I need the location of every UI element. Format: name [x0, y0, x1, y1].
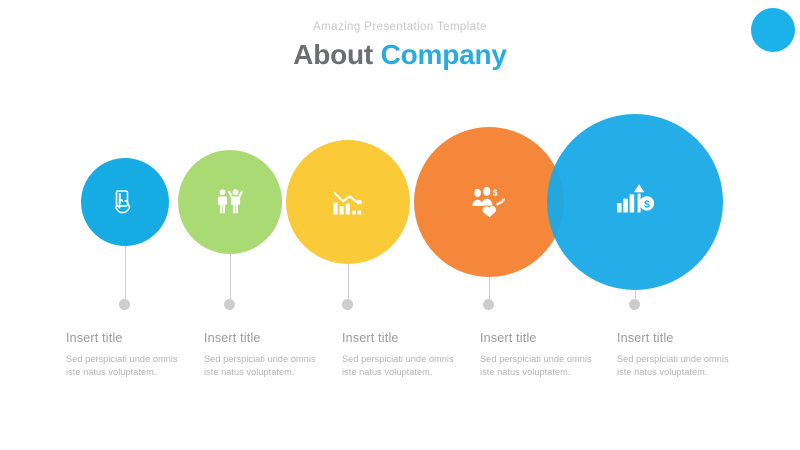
hand-credit-card-icon — [112, 188, 138, 216]
bubble-item-5[interactable]: $ — [547, 114, 723, 290]
caption-body-5: Sed perspiciati unde omnis iste natus vo… — [617, 353, 752, 379]
bubble-item-3[interactable] — [286, 140, 410, 264]
caption-body-2-line1: Sed perspiciati unde omnis — [204, 353, 339, 366]
caption-item-5: Insert title Sed perspiciati unde omnis … — [617, 330, 752, 379]
caption-body-5-line1: Sed perspiciati unde omnis — [617, 353, 752, 366]
caption-body-3-line1: Sed perspiciati unde omnis — [342, 353, 477, 366]
slide-canvas: Amazing Presentation Template About Comp… — [0, 0, 800, 450]
bubble-item-1[interactable] — [81, 158, 169, 246]
declining-bar-chart-icon — [331, 185, 365, 219]
caption-title-4: Insert title — [480, 330, 615, 346]
caption-title-1: Insert title — [66, 330, 201, 346]
caption-item-3: Insert title Sed perspiciati unde omnis … — [342, 330, 477, 379]
caption-item-1: Insert title Sed perspiciati unde omnis … — [66, 330, 201, 379]
caption-body-2-line2: iste natus voluptatem. — [204, 366, 339, 379]
caption-title-2: Insert title — [204, 330, 339, 346]
caption-body-4-line2: iste natus voluptatem. — [480, 366, 615, 379]
bubble-item-2[interactable] — [178, 150, 282, 254]
caption-item-4: Insert title Sed perspiciati unde omnis … — [480, 330, 615, 379]
caption-body-3-line2: iste natus voluptatem. — [342, 366, 477, 379]
caption-body-4: Sed perspiciati unde omnis iste natus vo… — [480, 353, 615, 379]
two-people-celebrating-icon — [213, 187, 247, 217]
growth-chart-dollar-icon: $ — [615, 183, 655, 221]
caption-body-1-line1: Sed perspiciati unde omnis — [66, 353, 201, 366]
caption-body-5-line2: iste natus voluptatem. — [617, 366, 752, 379]
svg-text:$: $ — [493, 188, 498, 197]
caption-title-5: Insert title — [617, 330, 752, 346]
caption-item-2: Insert title Sed perspiciati unde omnis … — [204, 330, 339, 379]
bubble-item-4[interactable]: $ — [414, 127, 564, 277]
caption-body-2: Sed perspiciati unde omnis iste natus vo… — [204, 353, 339, 379]
people-with-money-icon: $ — [470, 186, 508, 218]
caption-body-1: Sed perspiciati unde omnis iste natus vo… — [66, 353, 201, 379]
caption-title-3: Insert title — [342, 330, 477, 346]
caption-body-4-line1: Sed perspiciati unde omnis — [480, 353, 615, 366]
svg-text:$: $ — [644, 198, 650, 210]
caption-body-3: Sed perspiciati unde omnis iste natus vo… — [342, 353, 477, 379]
caption-body-1-line2: iste natus voluptatem. — [66, 366, 201, 379]
